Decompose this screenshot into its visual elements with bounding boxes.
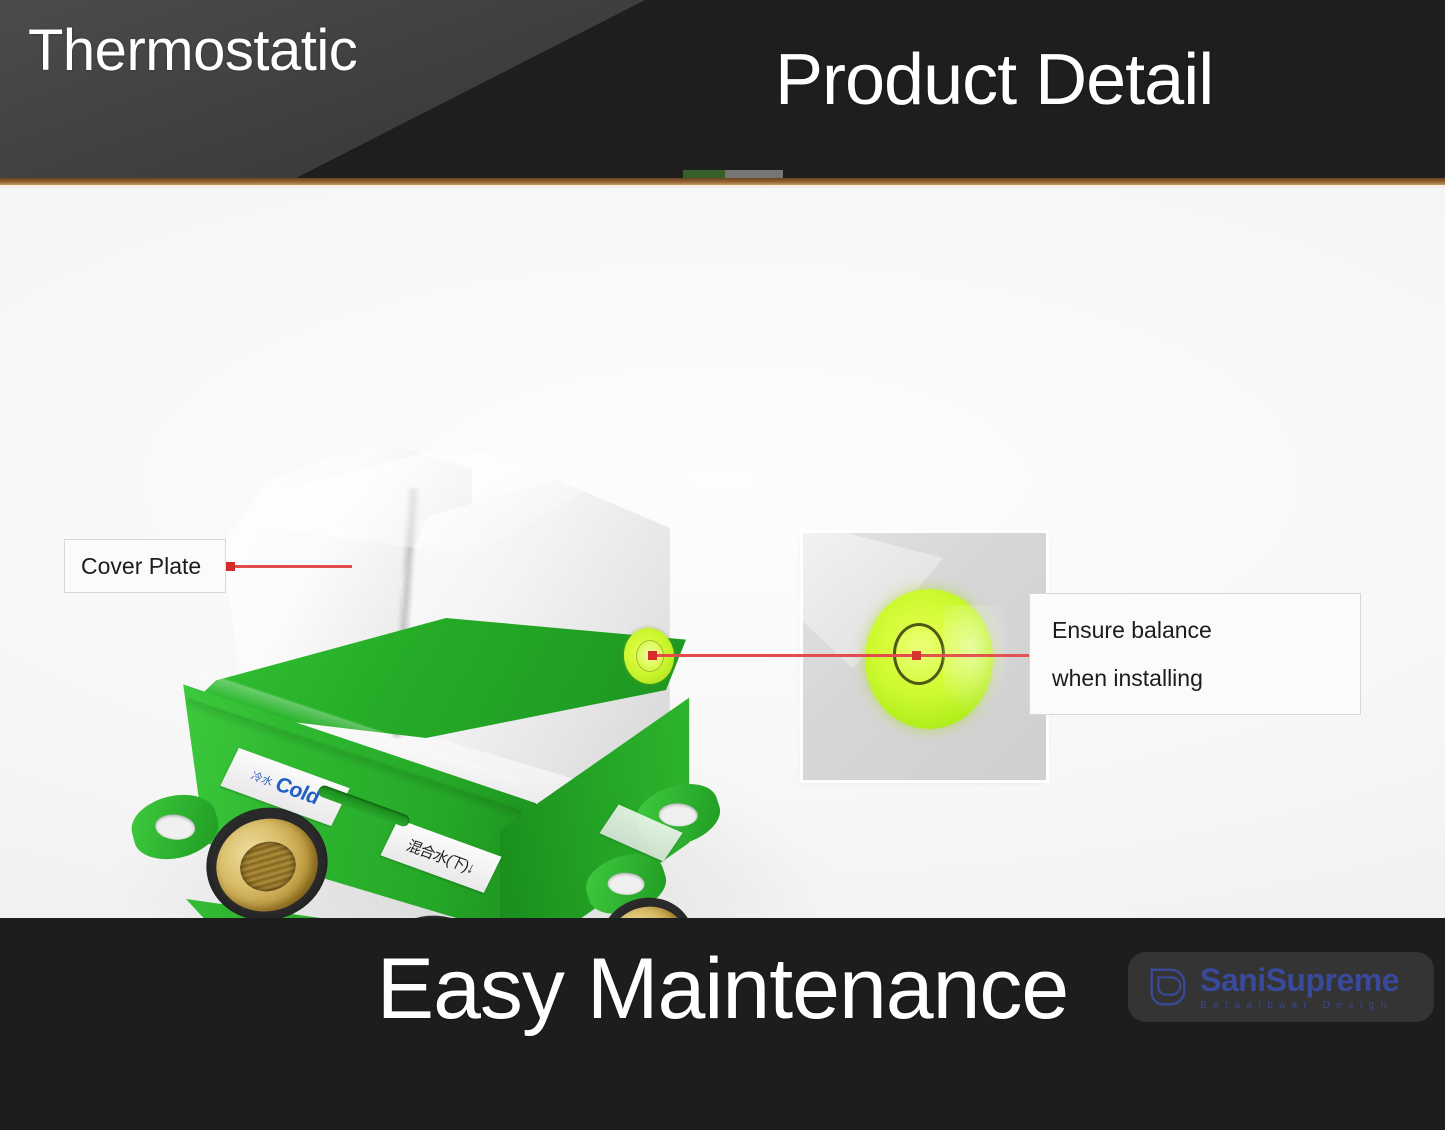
leader-line-bubble-level-to-label [912, 654, 1030, 657]
header-left-title: Thermostatic [28, 22, 357, 80]
brass-port-side [600, 898, 694, 918]
brass-port-cold [206, 808, 328, 918]
leader-line-bubble-level [648, 654, 912, 657]
watermark-tagline: Betaalbaar Design [1200, 1001, 1399, 1011]
callout-ensure-balance-line1: Ensure balance [1052, 606, 1212, 654]
header-grey-accent [725, 170, 783, 178]
cold-sticker-en: Cold [271, 773, 324, 810]
product-photo: 冷水 Cold 混合水(下)↓ Cover Plate [0, 188, 1445, 918]
watermark-brand: SaniSupreme [1200, 964, 1399, 996]
leader-line-cover-plate [226, 565, 352, 568]
header-right-title: Product Detail [775, 44, 1213, 116]
product-detail-banner: Thermostatic Product Detail [0, 0, 1445, 1130]
sanisupreme-logo-icon [1144, 964, 1190, 1010]
callout-cover-plate-label: Cover Plate [81, 549, 201, 584]
header-green-accent [683, 170, 725, 178]
watermark-text: SaniSupreme Betaalbaar Design [1200, 964, 1399, 1011]
callout-cover-plate: Cover Plate [64, 539, 226, 593]
mounting-hole-icon [658, 803, 697, 828]
callout-ensure-balance: Ensure balance when installing [1029, 593, 1361, 715]
watermark-badge: SaniSupreme Betaalbaar Design [1128, 952, 1434, 1022]
callout-ensure-balance-line2: when installing [1052, 654, 1203, 702]
mounting-hole-icon [154, 813, 196, 842]
inset-gloss-highlight [943, 605, 1013, 715]
header-band: Thermostatic Product Detail [0, 0, 1445, 178]
footer-band: Easy Maintenance [0, 918, 1445, 1130]
mounting-hole-icon [607, 872, 645, 896]
cold-sticker-cn: 冷水 [248, 768, 276, 790]
header-divider-line [0, 178, 1445, 185]
